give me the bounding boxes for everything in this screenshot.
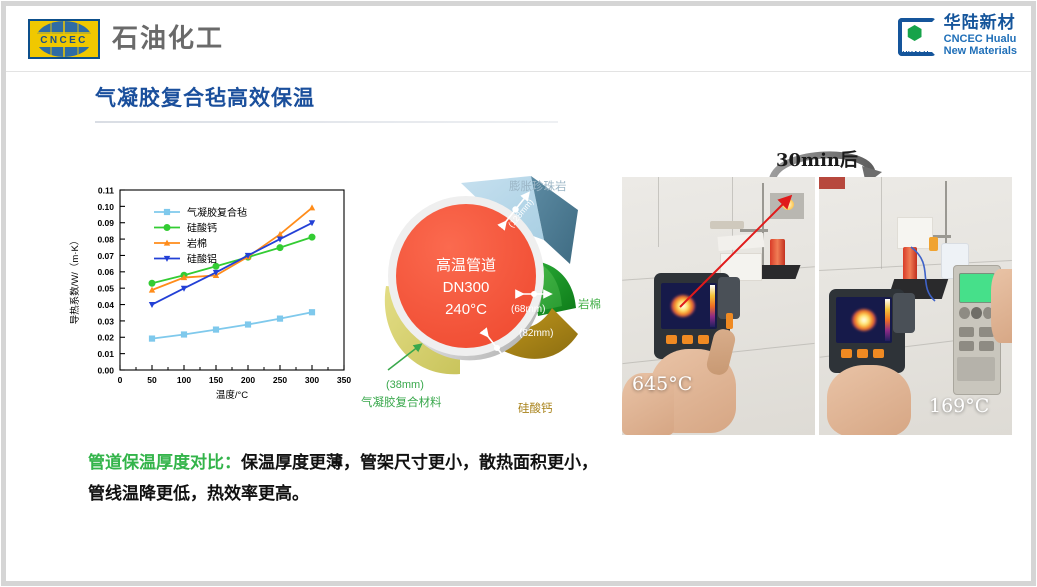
laser-pointer-arrow-icon — [622, 177, 815, 435]
x-tick-label: 300 — [305, 375, 319, 385]
thermal-conductivity-chart: 0.000.010.020.030.040.050.060.070.080.09… — [62, 182, 354, 412]
hualu-logo: HUALU 华陆新材 CNCEC Hualu New Materials — [896, 14, 1017, 58]
cncec-brand-text: 石油化工 — [112, 26, 224, 52]
aerogel-label: 气凝胶复合材料 — [361, 395, 442, 409]
y-axis-title: 导热系数/W/（m·K） — [69, 236, 81, 325]
pipe-core-line2: DN300 — [443, 279, 490, 296]
y-tick-label: 0.04 — [97, 300, 114, 310]
y-tick-label: 0.10 — [97, 202, 114, 212]
y-tick-label: 0.11 — [98, 185, 114, 195]
slide-edge-right — [1031, 0, 1037, 587]
cncec-emblem-icon: CNCEC — [28, 19, 100, 59]
pipe-insulation-diagram: 高温管道 DN300 240°C (128mm) (68mm) (82mm) (… — [356, 168, 618, 420]
caption-block: 管道保温厚度对比：保温厚度更薄，管架尺寸更小，散热面积更小，管线温降更低，热效率… — [88, 448, 608, 511]
perlite-label: 膨胀珍珠岩 — [509, 179, 567, 193]
y-tick-label: 0.06 — [97, 267, 114, 277]
pipe-diagram-svg: 高温管道 DN300 240°C (128mm) (68mm) (82mm) (… — [356, 168, 618, 420]
y-tick-label: 0.03 — [97, 316, 114, 326]
chart-svg: 0.000.010.020.030.040.050.060.070.080.09… — [62, 182, 354, 412]
y-tick-label: 0.05 — [97, 284, 114, 294]
x-tick-label: 100 — [177, 375, 191, 385]
pipe-core-line1: 高温管道 — [436, 256, 496, 274]
y-tick-label: 0.08 — [97, 234, 114, 244]
slide-edge-top — [0, 0, 1037, 6]
x-tick-label: 50 — [147, 375, 157, 385]
hualu-emblem-icon: HUALU — [896, 16, 936, 56]
caption-highlight: 管道保温厚度对比： — [88, 453, 241, 473]
y-tick-label: 0.00 — [97, 365, 114, 375]
photo-before: 645°C — [622, 177, 815, 435]
calcium-label: 硅酸钙 — [518, 401, 553, 415]
calcium-thickness: (82mm) — [519, 328, 553, 339]
left-temperature-label: 645°C — [632, 375, 692, 394]
x-tick-label: 250 — [273, 375, 287, 385]
x-axis-title: 温度/°C — [216, 389, 248, 401]
chart-legend-label: 气凝胶复合毡 — [187, 206, 247, 219]
slide-edge-bottom — [0, 581, 1037, 587]
page-title: 气凝胶复合毡高效保温 — [95, 86, 315, 111]
chart-legend-label: 硅酸钙 — [187, 221, 217, 234]
photo-after: 169°C — [819, 177, 1012, 435]
y-tick-label: 0.09 — [97, 218, 114, 228]
thermal-photo-pair: 645°C — [622, 177, 1012, 435]
hualu-brand-en2: New Materials — [944, 45, 1017, 58]
aerogel-thickness: (38mm) — [386, 379, 424, 391]
x-tick-label: 150 — [209, 375, 223, 385]
slide-root: CNCEC 石油化工 HUALU 华陆新材 CNCEC Hualu New Ma… — [0, 0, 1037, 587]
y-tick-label: 0.02 — [97, 333, 114, 343]
header-divider — [6, 71, 1031, 72]
right-temperature-label: 169°C — [929, 397, 989, 416]
rockwool-label: 岩棉 — [578, 297, 601, 311]
pipe-core-line3: 240°C — [445, 301, 487, 318]
rockwool-thickness: (68mm) — [511, 304, 545, 315]
cncec-logo: CNCEC 石油化工 — [28, 19, 224, 59]
y-tick-label: 0.07 — [97, 251, 114, 261]
cncec-letters: CNCEC — [30, 34, 98, 47]
x-tick-label: 350 — [337, 375, 351, 385]
title-underline — [95, 121, 558, 123]
transition-label: 30min后 — [776, 152, 858, 170]
x-tick-label: 200 — [241, 375, 255, 385]
hualu-brand-cn: 华陆新材 — [944, 14, 1017, 33]
y-tick-label: 0.01 — [97, 349, 114, 359]
x-tick-label: 0 — [118, 375, 123, 385]
chart-legend-label: 岩棉 — [187, 237, 207, 250]
chart-legend-label: 硅酸铝 — [187, 252, 217, 265]
hualu-brand-en1: CNCEC Hualu — [944, 33, 1017, 46]
hualu-mark-text: HUALU — [896, 51, 936, 58]
slide-edge-left — [0, 0, 6, 587]
